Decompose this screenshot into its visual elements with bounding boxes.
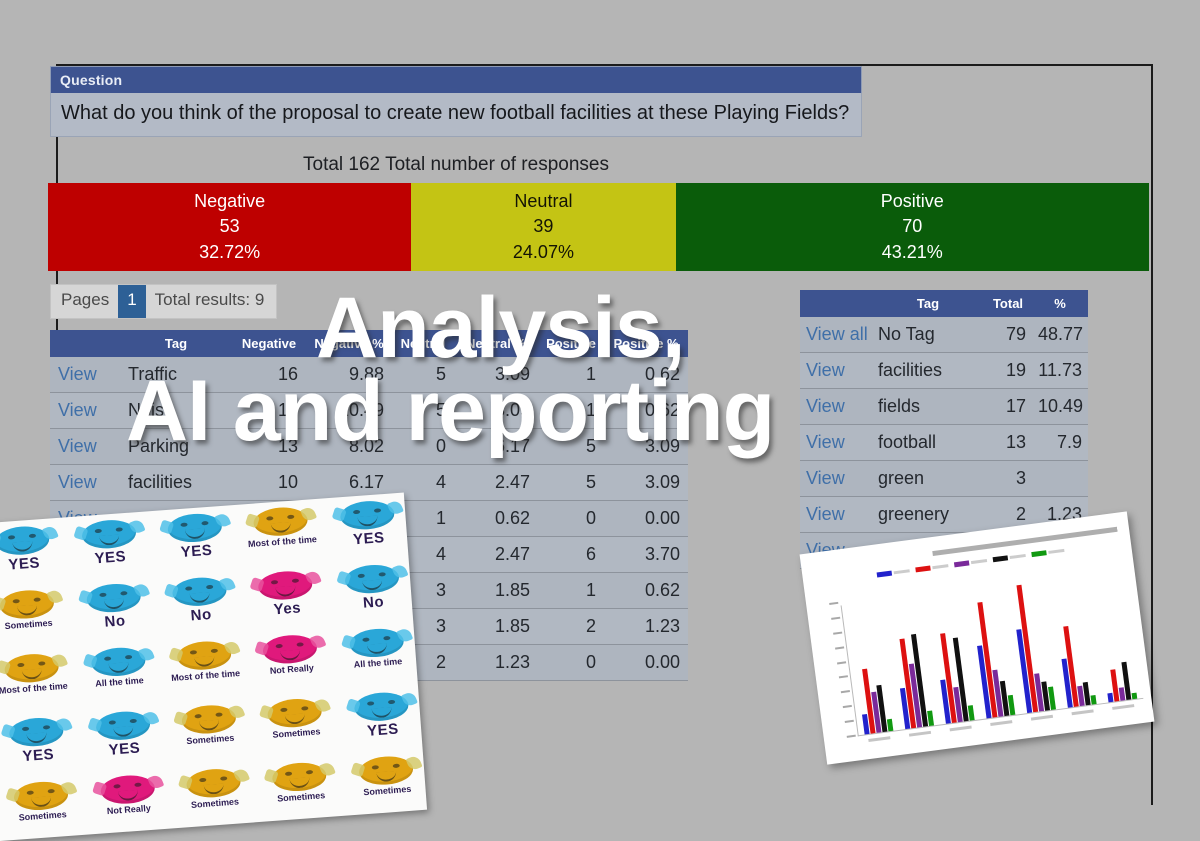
bar-group [929, 590, 975, 724]
sticker-sheet-photo: YESYESYESMost of the timeYESSometimesNoN… [0, 493, 427, 841]
smiley-face-icon [344, 563, 400, 595]
smiley-face-icon [90, 646, 146, 678]
view-link[interactable]: View [50, 429, 120, 465]
sticker-item: YES [324, 498, 413, 564]
sticker-caption: YES [8, 555, 41, 572]
smiley-face-icon [339, 499, 395, 531]
table-row: ViewNoise1710.4953.0910.62 [50, 393, 688, 429]
cell-neutral: 0 [392, 429, 454, 465]
y-axis-tick [847, 735, 856, 738]
sentiment-positive[interactable]: Positive 70 43.21% [676, 183, 1149, 271]
y-axis-tick [841, 690, 850, 693]
cell-tag: facilities [872, 353, 984, 389]
legend-entry [993, 553, 1026, 562]
sticker-caption: YES [94, 549, 127, 566]
sticker-caption: Sometimes [277, 791, 326, 803]
sticker-item: Most of the time [0, 651, 77, 717]
legend-entry [915, 563, 948, 572]
y-axis-tick [845, 720, 854, 723]
smiley-face-icon [0, 588, 55, 620]
sticker-item: YES [0, 715, 82, 781]
cell-positive: 0 [538, 501, 604, 537]
bar [927, 711, 934, 726]
smiley-face-icon [353, 691, 409, 723]
pagination-bar: Pages 1 Total results: 9 [50, 284, 277, 319]
smiley-face-icon [349, 627, 405, 659]
y-axis-tick [833, 631, 842, 634]
cell-percent [1032, 461, 1088, 497]
cell-neutral_pct: 2.47 [454, 537, 538, 573]
question-panel: Question What do you think of the propos… [50, 66, 862, 137]
cell-negative_pct: 8.02 [306, 429, 392, 465]
cell-negative: 13 [232, 429, 306, 465]
sticker-item: No [156, 575, 245, 641]
sticker-caption: No [104, 613, 126, 629]
col-header-negative-pct[interactable]: Negative % [306, 330, 392, 357]
cell-positive_pct: 0.62 [604, 393, 688, 429]
sticker-caption: Yes [273, 600, 301, 617]
col-header-view[interactable] [800, 290, 872, 317]
cell-total: 79 [984, 317, 1032, 353]
sentiment-negative-percent: 32.72% [199, 240, 260, 266]
sticker-caption: Most of the time [248, 535, 317, 549]
view-link[interactable]: View [50, 465, 120, 501]
sticker-item: YES [338, 690, 427, 756]
printed-bar-chart-photo [800, 511, 1155, 764]
cell-positive_pct: 3.09 [604, 429, 688, 465]
sticker-item: YES [80, 709, 169, 775]
sticker-caption: No [363, 594, 385, 610]
cell-tag: green [872, 461, 984, 497]
cell-negative: 17 [232, 393, 306, 429]
cell-percent: 11.73 [1032, 353, 1088, 389]
sticker-item: No [70, 581, 159, 647]
sticker-item: Sometimes [175, 830, 264, 841]
smiley-face-icon [276, 825, 332, 841]
cell-tag: facilities [120, 465, 232, 501]
sentiment-positive-label: Positive [881, 189, 944, 215]
cell-total: 19 [984, 353, 1032, 389]
table-row: ViewParking138.0206.1753.09 [50, 429, 688, 465]
cell-neutral_pct: 1.85 [454, 609, 538, 645]
cell-total: 17 [984, 389, 1032, 425]
pagination-page-1[interactable]: 1 [118, 285, 145, 318]
cell-neutral: 5 [392, 357, 454, 393]
smiley-face-icon [190, 831, 246, 841]
cell-positive: 6 [538, 537, 604, 573]
smiley-face-icon [81, 518, 137, 550]
smiley-face-icon [267, 697, 323, 729]
view-link[interactable]: View [800, 389, 872, 425]
sticker-item: YES [347, 817, 427, 841]
cell-positive: 1 [538, 573, 604, 609]
x-axis-tick-label [868, 736, 890, 742]
sentiment-neutral-percent: 24.07% [513, 240, 574, 266]
sticker-item: YES [0, 524, 68, 590]
sticker-item: Not Really [89, 836, 178, 841]
bar-group [1010, 579, 1056, 713]
total-responses-label: Total 162 Total number of responses [50, 154, 862, 176]
y-axis-tick [829, 602, 838, 605]
cell-neutral: 5 [392, 393, 454, 429]
smiley-face-icon [272, 761, 328, 793]
x-axis-tick-label [1113, 704, 1135, 710]
y-axis-tick [835, 646, 844, 649]
table-row: Viewfacilities1911.73 [800, 353, 1088, 389]
cell-tag: Noise [120, 393, 232, 429]
smiley-face-icon [258, 569, 314, 601]
sentiment-neutral-label: Neutral [514, 189, 572, 215]
bar-group [1051, 574, 1097, 708]
smiley-face-icon [358, 755, 414, 787]
sticker-item: No [329, 562, 418, 628]
bar-group [888, 595, 934, 729]
table-row: Viewfields1710.49 [800, 389, 1088, 425]
view-link[interactable]: View [50, 357, 120, 393]
cell-negative_pct: 10.49 [306, 393, 392, 429]
bar [887, 719, 893, 731]
smiley-face-icon [172, 576, 228, 608]
smiley-face-icon [253, 506, 309, 538]
cell-total: 3 [984, 461, 1032, 497]
col-header-pct[interactable]: % [1032, 290, 1088, 317]
smiley-face-icon [85, 582, 141, 614]
table-row: ViewTraffic169.8853.0910.62 [50, 357, 688, 393]
cell-percent: 10.49 [1032, 389, 1088, 425]
x-axis-tick-label [949, 726, 971, 732]
x-axis-tick-label [990, 720, 1012, 726]
cell-positive: 5 [538, 465, 604, 501]
smiley-face-icon [4, 652, 60, 684]
smiley-face-icon [9, 716, 65, 748]
cell-total: 13 [984, 425, 1032, 461]
cell-tag: greenery [872, 497, 984, 533]
col-header-view[interactable] [50, 330, 120, 357]
cell-neutral_pct: 6.17 [454, 429, 538, 465]
cell-tag: football [872, 425, 984, 461]
x-axis-tick-label [1072, 709, 1094, 715]
bar-group [1091, 569, 1137, 703]
sticker-caption: Sometimes [272, 727, 321, 739]
smiley-face-icon [99, 774, 155, 806]
view-link[interactable]: View [800, 425, 872, 461]
sticker-item: Sometimes [343, 754, 427, 820]
cell-neutral_pct: 2.47 [454, 465, 538, 501]
sticker-caption: YES [180, 543, 213, 560]
sentiment-neutral-count: 39 [533, 214, 553, 240]
sticker-caption: YES [108, 741, 141, 758]
legend-entry [1031, 548, 1064, 557]
smiley-face-icon [181, 703, 237, 735]
cell-positive_pct: 3.09 [604, 465, 688, 501]
cell-tag: Traffic [120, 357, 232, 393]
col-header-positive[interactable]: Positive [538, 330, 604, 357]
sticker-item: Not Really [247, 632, 336, 698]
sentiment-neutral[interactable]: Neutral 39 24.07% [411, 183, 675, 271]
sticker-caption: YES [353, 530, 386, 547]
cell-negative: 10 [232, 465, 306, 501]
view-link[interactable]: View [50, 393, 120, 429]
y-axis-tick [843, 705, 852, 708]
cell-neutral_pct: 1.85 [454, 573, 538, 609]
cell-positive: 1 [538, 393, 604, 429]
sticker-caption: All the time [95, 676, 144, 689]
sticker-caption: Not Really [107, 804, 152, 816]
table-row: Viewgreen3 [800, 461, 1088, 497]
sticker-item: Sometimes [252, 696, 341, 762]
sticker-item: Sometimes [0, 587, 73, 653]
cell-positive_pct: 0.00 [604, 645, 688, 681]
col-header-tag[interactable]: Tag [120, 330, 232, 357]
sticker-item: Sometimes [170, 766, 259, 832]
y-axis-tick [839, 676, 848, 679]
col-header-neutral[interactable]: Neutral [392, 330, 454, 357]
sticker-item: Sometimes [0, 779, 87, 841]
sticker-item: Sometimes [257, 760, 346, 826]
sentiment-negative[interactable]: Negative 53 32.72% [48, 183, 411, 271]
sticker-item: Yes [243, 568, 332, 634]
bar-group [848, 601, 894, 735]
cell-neutral_pct: 1.23 [454, 645, 538, 681]
sticker-item: Sometimes [166, 702, 255, 768]
smiley-face-icon [0, 525, 50, 557]
cell-percent: 7.9 [1032, 425, 1088, 461]
cell-positive: 1 [538, 357, 604, 393]
smiley-face-icon [95, 710, 151, 742]
question-header: Question [50, 66, 862, 93]
cell-neutral_pct: 3.09 [454, 393, 538, 429]
pagination-total-results: Total results: 9 [146, 285, 277, 318]
sentiment-negative-label: Negative [194, 189, 265, 215]
col-header-neutral-pct[interactable]: Neutral % [454, 330, 538, 357]
smiley-face-icon [262, 633, 318, 665]
bar [968, 706, 975, 721]
smiley-face-icon [176, 640, 232, 672]
bar [1132, 693, 1138, 699]
view-link[interactable]: View all [800, 317, 872, 353]
view-link[interactable]: View [800, 461, 872, 497]
x-axis-tick-label [1031, 715, 1053, 721]
view-link[interactable]: View [800, 353, 872, 389]
sentiment-negative-count: 53 [220, 214, 240, 240]
cell-positive: 0 [538, 645, 604, 681]
col-header-positive-pct[interactable]: Positive % [604, 330, 688, 357]
cell-neutral_pct: 3.09 [454, 357, 538, 393]
sticker-caption: Most of the time [171, 669, 240, 683]
sticker-item: All the time [333, 626, 422, 692]
col-header-negative[interactable]: Negative [232, 330, 306, 357]
sticker-caption: Sometimes [186, 734, 235, 746]
cell-positive_pct: 0.62 [604, 573, 688, 609]
sticker-item: YES [66, 517, 155, 583]
question-text: What do you think of the proposal to cre… [50, 93, 862, 137]
sticker-item: Not Really [84, 773, 173, 839]
cell-tag: fields [872, 389, 984, 425]
sentiment-positive-percent: 43.21% [882, 240, 943, 266]
cell-neutral_pct: 0.62 [454, 501, 538, 537]
sentiment-summary-bar: Negative 53 32.72% Neutral 39 24.07% Pos… [48, 183, 1149, 271]
sticker-caption: Most of the time [0, 682, 68, 696]
pagination-pages-label: Pages [51, 285, 118, 318]
cell-percent: 48.77 [1032, 317, 1088, 353]
cell-negative: 16 [232, 357, 306, 393]
sticker-caption: All the time [353, 657, 402, 670]
x-axis-tick-label [909, 731, 931, 737]
sticker-grid: YESYESYESMost of the timeYESSometimesNoN… [0, 498, 427, 841]
sticker-caption: Not Really [270, 664, 315, 676]
sticker-caption: No [190, 607, 212, 623]
smiley-face-icon [186, 767, 242, 799]
sticker-item: Not Really [261, 824, 350, 841]
y-axis-tick [837, 661, 846, 664]
cell-positive_pct: 3.70 [604, 537, 688, 573]
table-row: View allNo Tag7948.77 [800, 317, 1088, 353]
cell-positive: 2 [538, 609, 604, 645]
sticker-caption: YES [367, 722, 400, 739]
table-header-row: Tag Total % [800, 290, 1088, 317]
cell-negative_pct: 9.88 [306, 357, 392, 393]
legend-entry [877, 568, 910, 577]
sticker-caption: Sometimes [18, 810, 67, 822]
sticker-item: All the time [75, 645, 164, 711]
smiley-face-icon [363, 818, 419, 841]
smiley-face-icon [13, 780, 69, 812]
legend-entry [954, 558, 987, 567]
view-link[interactable]: View [800, 497, 872, 533]
sticker-item: Most of the time [238, 505, 327, 571]
sticker-item: Most of the time [161, 639, 250, 705]
sticker-caption: Sometimes [363, 785, 412, 797]
col-header-total[interactable]: Total [984, 290, 1032, 317]
sticker-caption: Sometimes [4, 619, 53, 631]
cell-positive_pct: 0.62 [604, 357, 688, 393]
cell-tag: Parking [120, 429, 232, 465]
smiley-face-icon [167, 512, 223, 544]
cell-positive: 5 [538, 429, 604, 465]
sticker-item: YES [152, 511, 241, 577]
sticker-caption: YES [22, 747, 55, 764]
smiley-face-icon [104, 837, 160, 841]
cell-positive_pct: 0.00 [604, 501, 688, 537]
table-header-row: Tag Negative Negative % Neutral Neutral … [50, 330, 688, 357]
bar [1091, 695, 1097, 704]
table-row: Viewfootball137.9 [800, 425, 1088, 461]
col-header-tag[interactable]: Tag [872, 290, 984, 317]
cell-positive_pct: 1.23 [604, 609, 688, 645]
bar-group [969, 585, 1015, 719]
sentiment-positive-count: 70 [902, 214, 922, 240]
cell-tag: No Tag [872, 317, 984, 353]
sticker-caption: Sometimes [191, 797, 240, 809]
y-axis-tick [831, 617, 840, 620]
